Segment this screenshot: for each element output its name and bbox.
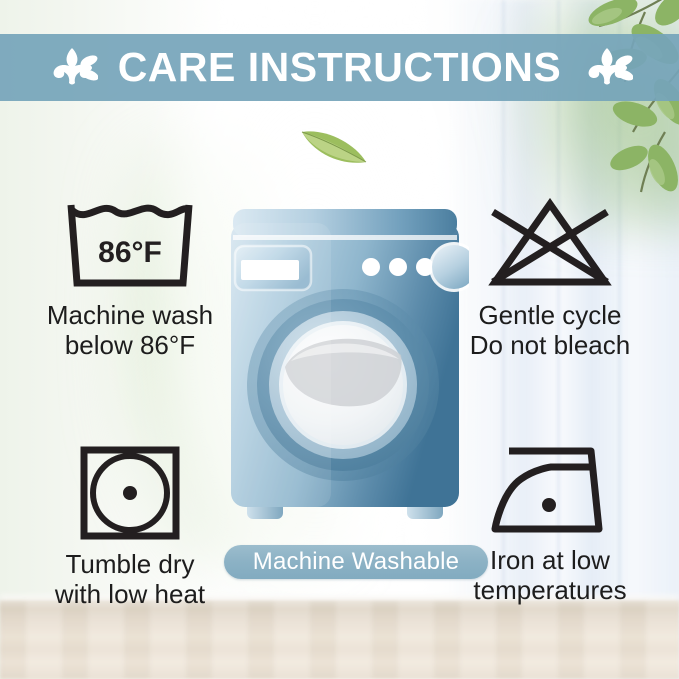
badge-label: Machine Washable <box>253 550 459 574</box>
care-instructions-infographic: CARE INSTRUCTIONS 86°F Machine wash belo… <box>0 0 679 679</box>
wash-temperature-value: 86°F <box>98 236 162 269</box>
care-item-label: Gentle cycle Do not bleach <box>470 300 630 360</box>
triangle-crossed-icon <box>480 198 620 290</box>
fleur-de-lis-icon <box>46 45 98 91</box>
fleur-de-lis-icon <box>581 45 633 91</box>
iron-low-heat-icon <box>487 443 613 539</box>
header-banner: CARE INSTRUCTIONS <box>0 34 679 101</box>
indicator-light <box>362 258 380 276</box>
care-item-label: Tumble dry with low heat <box>55 549 205 609</box>
care-item-tumble-dry: Tumble dry with low heat <box>14 443 246 609</box>
tumble-dry-low-icon <box>76 443 184 543</box>
banner-title: CARE INSTRUCTIONS <box>118 47 562 88</box>
floating-leaf-icon <box>298 122 370 168</box>
foliage-branch-icon <box>495 0 679 202</box>
indicator-light <box>389 258 407 276</box>
washing-machine-illustration <box>219 205 469 535</box>
care-item-machine-wash: 86°F Machine wash below 86°F <box>14 198 246 360</box>
wash-tub-icon: 86°F <box>60 198 200 290</box>
machine-washable-badge: Machine Washable <box>224 545 488 579</box>
care-item-label: Iron at low temperatures <box>473 545 626 605</box>
table-wood-grain <box>0 601 679 679</box>
care-item-label: Machine wash below 86°F <box>47 300 213 360</box>
